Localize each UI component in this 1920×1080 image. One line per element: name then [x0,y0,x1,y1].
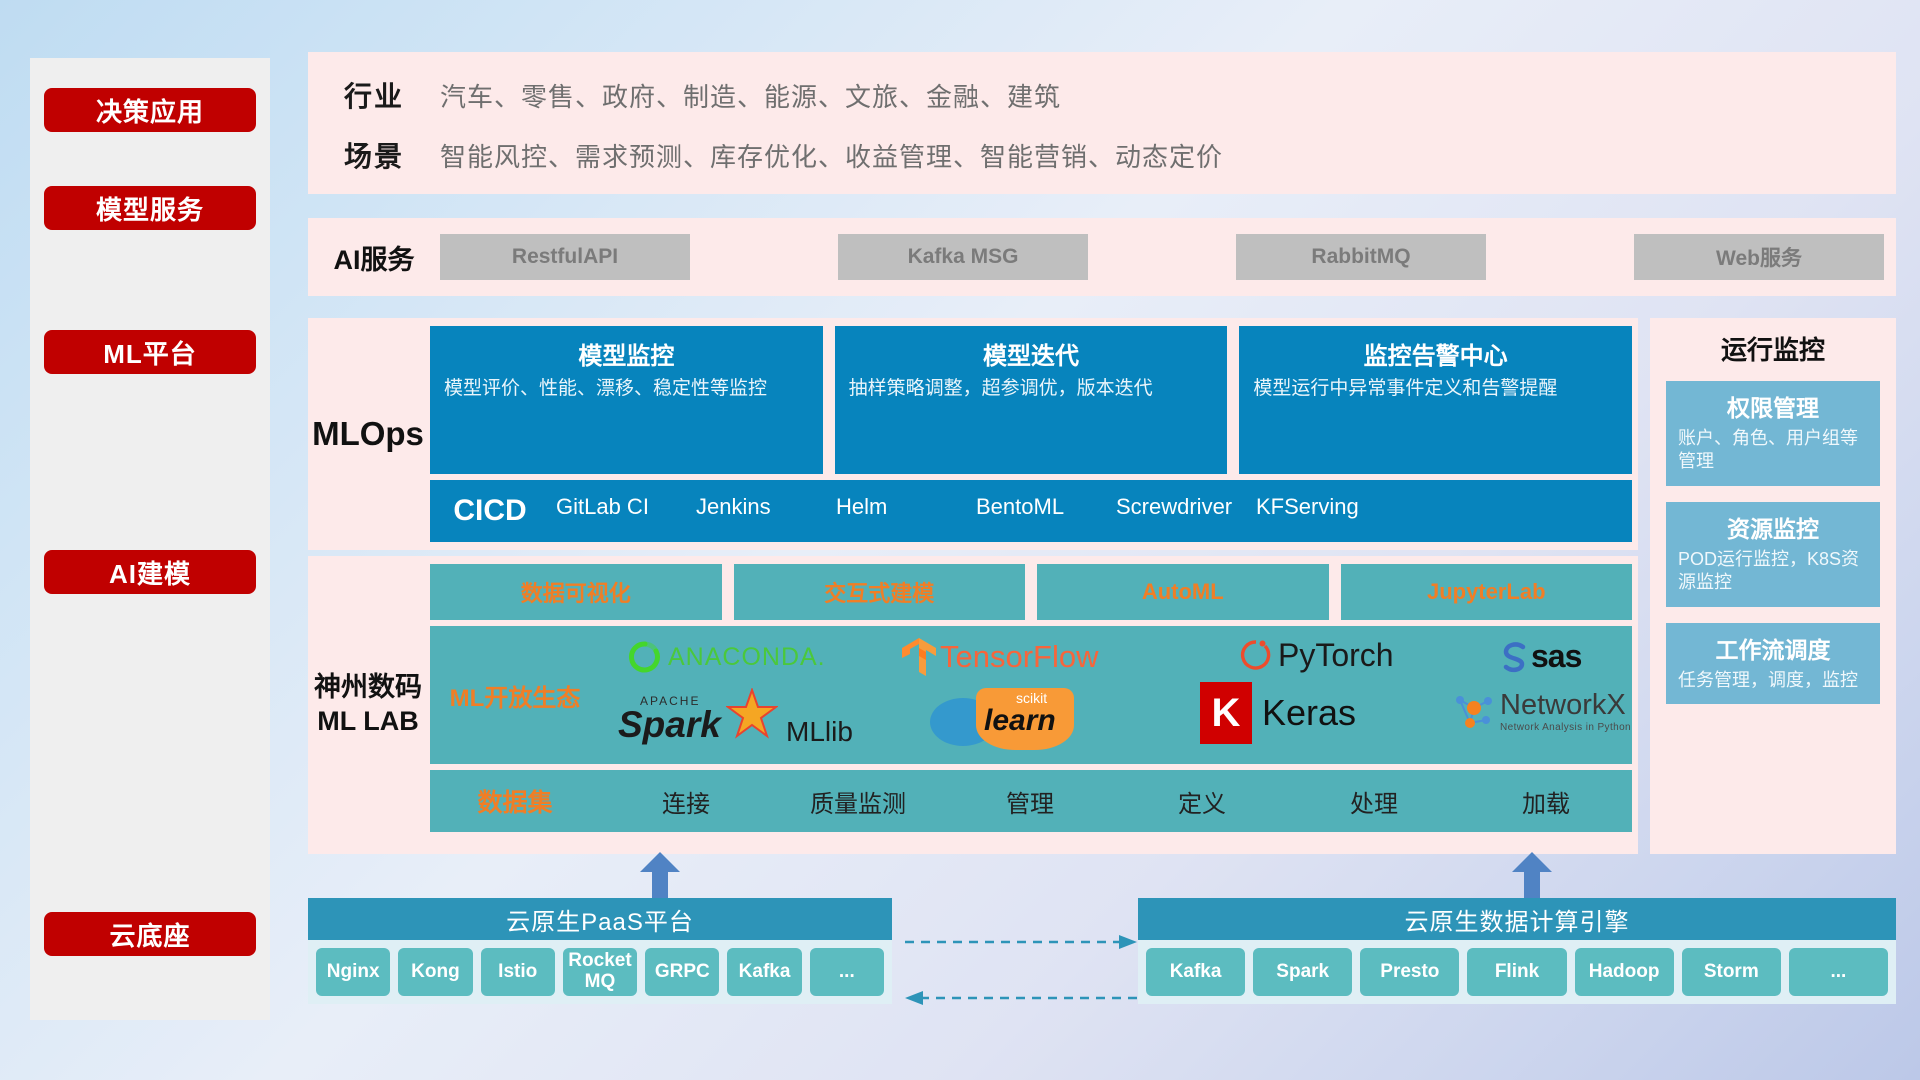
bidirectional-link-group [905,920,1137,1020]
rail-item-ai-modeling[interactable]: AI建模 [44,550,256,594]
pytorch-mark-icon [1240,636,1272,674]
networkx-logo: NetworkX Network Analysis in Python [1450,688,1631,734]
service-chip-restfulapi[interactable]: RestfulAPI [440,234,690,280]
industry-label: 行业 [308,75,440,115]
engine-chip-hadoop[interactable]: Hadoop [1575,948,1674,996]
mlops-card-alert-center[interactable]: 监控告警中心 模型运行中异常事件定义和告警提醒 [1239,326,1632,474]
paas-chip-rocketmq[interactable]: RocketMQ [563,948,637,996]
ai-service-panel: AI服务 RestfulAPI Kafka MSG RabbitMQ Web服务 [308,218,1896,296]
decision-application-panel: 行业 汽车、零售、政府、制造、能源、文旅、金融、建筑 场景 智能风控、需求预测、… [308,52,1896,194]
mlops-card-model-monitoring[interactable]: 模型监控 模型评价、性能、漂移、稳定性等监控 [430,326,823,474]
card-desc: POD运行监控，K8S资源监控 [1678,548,1868,595]
spark-mllib-logo: APACHE Spark MLlib [618,692,853,750]
architecture-diagram: 决策应用 模型服务 ML平台 AI建模 云底座 行业 汽车、零售、政府、制造、能… [0,0,1920,1080]
ml-lab-panel: 神州数码 ML LAB 数据可视化 交互式建模 AutoML JupyterLa… [308,556,1638,854]
tool-chip-interactive-modeling[interactable]: 交互式建模 [734,564,1026,620]
sas-logo: sas [1500,638,1581,675]
ml-ecosystem-band: ML开放生态 ANACONDA. [430,626,1632,764]
paas-chip-kong[interactable]: Kong [398,948,472,996]
tool-chip-jupyterlab[interactable]: JupyterLab [1341,564,1633,620]
spark-wordmark: Spark [618,704,721,746]
paas-title: 云原生PaaS平台 [308,898,892,940]
card-desc: 抽样策略调整，超参调优，版本迭代 [849,377,1214,402]
paas-chip-istio[interactable]: Istio [481,948,555,996]
monitor-card-resource-monitoring[interactable]: 资源监控 POD运行监控，K8S资源监控 [1666,502,1880,607]
industry-values: 汽车、零售、政府、制造、能源、文旅、金融、建筑 [440,77,1061,114]
rail-item-decision-app[interactable]: 决策应用 [44,88,256,132]
card-desc: 账户、角色、用户组等管理 [1678,427,1868,474]
card-desc: 模型评价、性能、漂移、稳定性等监控 [444,377,809,402]
monitor-card-workflow-scheduling[interactable]: 工作流调度 任务管理，调度，监控 [1666,623,1880,704]
dataset-bar: 数据集 连接 质量监测 管理 定义 处理 加载 [430,770,1632,832]
monitor-card-permission-management[interactable]: 权限管理 账户、角色、用户组等管理 [1666,381,1880,486]
tool-chip-automl[interactable]: AutoML [1037,564,1329,620]
ml-tool-group: 数据可视化 交互式建模 AutoML JupyterLab [430,564,1632,620]
ml-lab-label-line1: 神州数码 [314,671,422,705]
arrow-up-paas-icon [638,852,682,898]
rail-item-cloud-base[interactable]: 云底座 [44,912,256,956]
mllib-wordmark: MLlib [786,716,853,748]
engine-chip-kafka[interactable]: Kafka [1146,948,1245,996]
arrow-up-compute-engine-icon [1510,852,1554,898]
dataset-item-connect[interactable]: 连接 [600,784,772,819]
ai-service-label: AI服务 [308,238,440,277]
scenario-values: 智能风控、需求预测、库存优化、收益管理、智能营销、动态定价 [440,137,1223,174]
mlops-panel: MLOps 模型监控 模型评价、性能、漂移、稳定性等监控 模型迭代 抽样策略调整… [308,318,1638,550]
tool-chip-data-visualization[interactable]: 数据可视化 [430,564,722,620]
rail-item-model-service[interactable]: 模型服务 [44,186,256,230]
cicd-item-screwdriver[interactable]: Screwdriver [1110,494,1250,519]
compute-engine-chip-group: Kafka Spark Presto Flink Hadoop Storm ..… [1138,940,1896,1004]
keras-mark-letter: K [1212,691,1241,736]
learn-wordmark: learn [984,704,1056,738]
card-title: 权限管理 [1678,389,1868,423]
runtime-monitor-title: 运行监控 [1650,318,1896,381]
keras-wordmark: Keras [1262,692,1356,734]
anaconda-wordmark: ANACONDA. [668,643,826,672]
pytorch-logo: PyTorch [1240,636,1394,674]
tensorflow-wordmark: TensorFlow [940,639,1099,675]
ml-ecosystem-logo-group: ANACONDA. TensorFlow [600,626,1632,764]
dataset-item-quality-monitoring[interactable]: 质量监测 [772,784,944,819]
arrow-head-left-icon [905,991,923,1005]
service-chip-web-service[interactable]: Web服务 [1634,234,1884,280]
keras-mark-icon: K [1200,682,1252,744]
ml-lab-label: 神州数码 ML LAB [308,556,428,854]
mlops-label: MLOps [308,318,428,550]
paas-chip-grpc[interactable]: GRPC [645,948,719,996]
anaconda-logo: ANACONDA. [628,640,826,674]
card-title: 监控告警中心 [1253,336,1618,371]
cicd-item-helm[interactable]: Helm [830,494,970,519]
ml-ecosystem-label: ML开放生态 [430,678,600,713]
tensorflow-mark-icon [900,636,938,678]
pytorch-wordmark: PyTorch [1278,637,1394,674]
rail-item-ml-platform[interactable]: ML平台 [44,330,256,374]
tensorflow-logo: TensorFlow [900,636,1099,678]
compute-engine-title: 云原生数据计算引擎 [1138,898,1896,940]
rail-label: 云底座 [109,916,190,953]
scenario-row: 场景 智能风控、需求预测、库存优化、收益管理、智能营销、动态定价 [308,126,1223,184]
card-desc: 模型运行中异常事件定义和告警提醒 [1253,377,1618,402]
service-chip-kafka-msg[interactable]: Kafka MSG [838,234,1088,280]
ai-service-chip-group: RestfulAPI Kafka MSG RabbitMQ Web服务 [440,234,1896,280]
card-title: 资源监控 [1678,510,1868,544]
rail-label: AI建模 [109,554,191,591]
engine-chip-spark[interactable]: Spark [1253,948,1352,996]
dataset-item-process[interactable]: 处理 [1288,784,1460,819]
dataset-item-load[interactable]: 加载 [1460,784,1632,819]
paas-chip-nginx[interactable]: Nginx [316,948,390,996]
paas-chip-more[interactable]: ... [810,948,884,996]
ml-lab-label-line2: ML LAB [317,705,419,739]
arrow-head-right-icon [1119,935,1137,949]
networkx-wordmark: NetworkX [1500,689,1631,722]
mlops-card-model-iteration[interactable]: 模型迭代 抽样策略调整，超参调优，版本迭代 [835,326,1228,474]
keras-logo: K Keras [1200,682,1356,744]
cicd-label: CICD [430,494,550,528]
engine-chip-flink[interactable]: Flink [1467,948,1566,996]
paas-chip-group: Nginx Kong Istio RocketMQ GRPC Kafka ... [308,940,892,1004]
dataset-item-manage[interactable]: 管理 [944,784,1116,819]
rail-label: 决策应用 [96,92,204,129]
scenario-label: 场景 [308,135,440,175]
card-title: 工作流调度 [1678,631,1868,665]
sas-mark-icon [1500,640,1530,674]
cloud-native-compute-engine-block: 云原生数据计算引擎 Kafka Spark Presto Flink Hadoo… [1138,898,1896,1004]
cicd-item-kfserving[interactable]: KFServing [1250,494,1390,519]
service-chip-rabbitmq[interactable]: RabbitMQ [1236,234,1486,280]
card-title: 模型监控 [444,336,809,371]
engine-chip-presto[interactable]: Presto [1360,948,1459,996]
rail-label: 模型服务 [96,190,204,227]
rail-label: ML平台 [103,334,197,371]
dataset-label: 数据集 [430,783,600,819]
card-desc: 任务管理，调度，监控 [1678,669,1868,692]
paas-chip-kafka[interactable]: Kafka [727,948,801,996]
cicd-item-gitlab-ci[interactable]: GitLab CI [550,494,690,519]
industry-row: 行业 汽车、零售、政府、制造、能源、文旅、金融、建筑 [308,66,1061,124]
cicd-bar: CICD GitLab CI Jenkins Helm BentoML Scre… [430,480,1632,542]
networkx-mark-icon [1450,688,1496,734]
cicd-item-bentoml[interactable]: BentoML [970,494,1110,519]
networkx-tagline: Network Analysis in Python [1500,722,1631,733]
engine-chip-storm[interactable]: Storm [1682,948,1781,996]
cicd-item-jenkins[interactable]: Jenkins [690,494,830,519]
anaconda-mark-icon [628,640,662,674]
cloud-native-paas-block: 云原生PaaS平台 Nginx Kong Istio RocketMQ GRPC… [308,898,892,1004]
card-title: 模型迭代 [849,336,1214,371]
layer-rail: 决策应用 模型服务 ML平台 AI建模 云底座 [30,58,270,1020]
runtime-monitor-panel: 运行监控 权限管理 账户、角色、用户组等管理 资源监控 POD运行监控，K8S资… [1650,318,1896,854]
sas-wordmark: sas [1531,638,1581,675]
engine-chip-more[interactable]: ... [1789,948,1888,996]
scikit-learn-logo: scikit learn [930,688,1120,750]
spark-star-icon [726,688,778,740]
dataset-item-define[interactable]: 定义 [1116,784,1288,819]
mlops-card-group: 模型监控 模型评价、性能、漂移、稳定性等监控 模型迭代 抽样策略调整，超参调优，… [430,326,1632,474]
